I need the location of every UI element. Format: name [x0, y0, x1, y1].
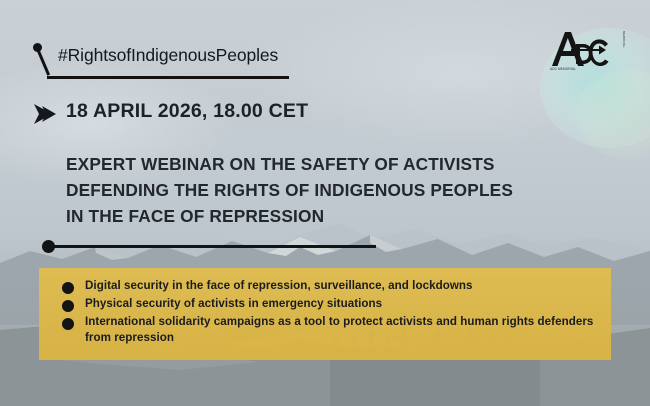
- webinar-poster: #RightsofIndigenousPeoples 18 APRIL 2026…: [0, 0, 650, 406]
- event-date-time: 18 APRIL 2026, 18.00 CET: [66, 100, 308, 123]
- logo-side-caption: MEMORIAL: [611, 31, 625, 61]
- topic-label: International solidarity campaigns as a …: [85, 314, 610, 346]
- title-line-3: IN THE FACE OF REPRESSION: [66, 203, 586, 229]
- hashtag-diagonal-line-icon: [36, 48, 50, 76]
- title-line-1: EXPERT WEBINAR ON THE SAFETY OF ACTIVIST…: [66, 151, 586, 177]
- title-line-2: DEFENDING THE RIGHTS OF INDIGENOUS PEOPL…: [66, 177, 586, 203]
- divider: [42, 238, 372, 254]
- bullet-dot-icon: [62, 282, 74, 294]
- topics-panel: Digital security in the face of repressi…: [39, 268, 611, 360]
- bullet-dot-icon: [62, 318, 74, 330]
- organization-logo: ADC MEMORIAL MEMORIAL: [549, 28, 627, 84]
- hashtag-underline-icon: [47, 76, 289, 79]
- hashtag-label: #RightsofIndigenousPeoples: [58, 45, 278, 66]
- event-title: EXPERT WEBINAR ON THE SAFETY OF ACTIVIST…: [66, 151, 586, 229]
- topic-label: Physical security of activists in emerge…: [85, 296, 610, 312]
- logo-caption: ADC MEMORIAL: [550, 67, 608, 71]
- double-chevron-arrow-icon: [33, 103, 57, 125]
- hashtag-group: #RightsofIndigenousPeoples: [33, 43, 313, 83]
- divider-line-icon: [52, 245, 376, 248]
- bullet-dot-icon: [62, 300, 74, 312]
- topics-list: Digital security in the face of repressi…: [39, 268, 611, 360]
- topic-label: Digital security in the face of repressi…: [85, 278, 610, 294]
